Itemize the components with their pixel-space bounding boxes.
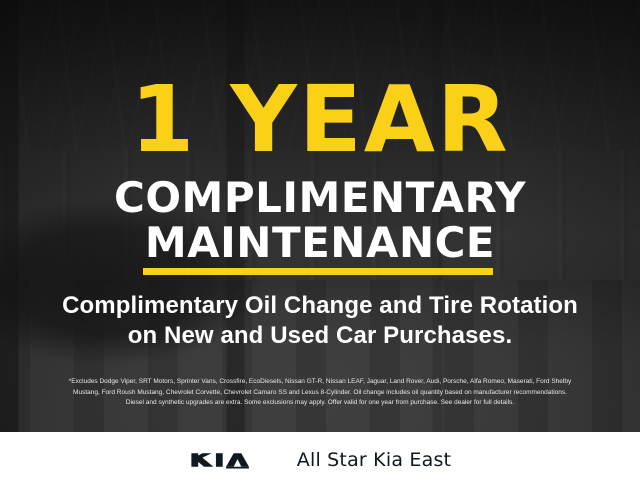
headline-complimentary: COMPLIMENTARY <box>0 177 640 219</box>
disclaimer-line-2: Mustang, Ford Roush Mustang, Chevrolet C… <box>14 388 626 399</box>
disclaimer-line-3: Diesel and synthetic upgrades are extra.… <box>14 398 626 409</box>
disclaimer-text: *Excludes Dodge Viper, SRT Motors, Sprin… <box>14 377 626 409</box>
kia-logo-icon <box>189 449 275 471</box>
yellow-divider-bar <box>143 268 493 275</box>
brand-footer: All Star Kia East <box>0 432 640 488</box>
offer-description-line-1: Complimentary Oil Change and Tire Rotati… <box>0 292 640 320</box>
promo-banner: 1 YEAR COMPLIMENTARY MAINTENANCE Complim… <box>0 0 640 488</box>
hero-section: 1 YEAR COMPLIMENTARY MAINTENANCE Complim… <box>0 0 640 432</box>
dealer-name: All Star Kia East <box>297 449 451 471</box>
headline-year: 1 YEAR <box>0 74 640 166</box>
offer-description-line-2: on New and Used Car Purchases. <box>0 322 640 350</box>
headline-maintenance: MAINTENANCE <box>0 222 640 264</box>
hero-content: 1 YEAR COMPLIMENTARY MAINTENANCE Complim… <box>0 0 640 432</box>
disclaimer-line-1: *Excludes Dodge Viper, SRT Motors, Sprin… <box>14 377 626 388</box>
